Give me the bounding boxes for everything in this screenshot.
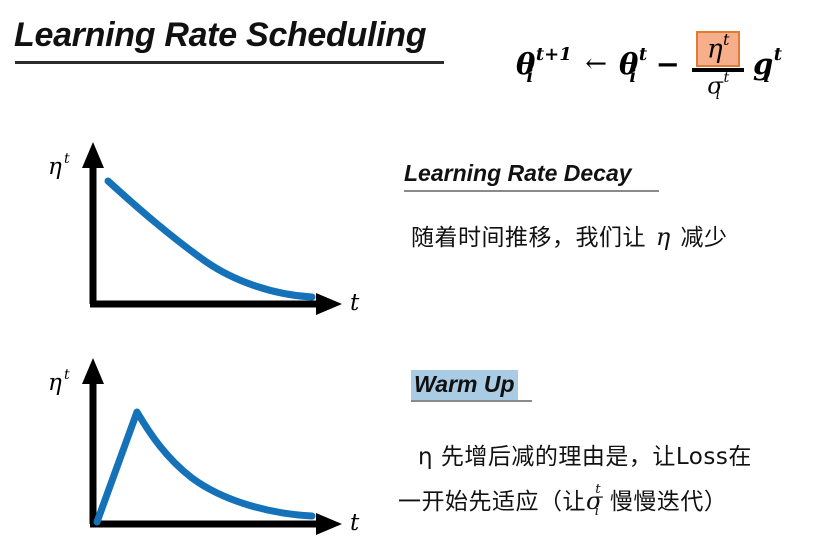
- minus-operator: −: [656, 47, 680, 81]
- y-axis-label-eta: η: [48, 370, 62, 396]
- section-heading-underline-decay: [404, 190, 659, 192]
- decay-curve: [108, 181, 312, 297]
- section-heading-warm-up: Warm Up: [411, 370, 518, 400]
- decay-description-suffix: 减少: [681, 225, 728, 251]
- learning-rate-fraction: ηt σti: [692, 31, 744, 100]
- section-heading-underline-warmup: [411, 400, 532, 402]
- chart-decay-axes: [82, 142, 342, 315]
- warmup-line2-suffix: 慢慢迭代）: [610, 489, 728, 515]
- update-rule-formula: θt+1i ← θti − ηt σti gti: [516, 16, 782, 112]
- x-axis-arrowhead: [316, 513, 342, 535]
- y-axis-label-eta: η: [48, 154, 62, 180]
- eta-highlight-box: ηt: [696, 31, 740, 67]
- y-axis-label-superscript: t: [64, 151, 70, 167]
- theta-next-symbol: θt+1i: [516, 47, 571, 81]
- x-axis-label-t: t: [350, 510, 360, 536]
- chart-warm-up: η t t: [20, 348, 380, 553]
- y-axis-label-superscript: t: [64, 367, 70, 383]
- theta-current-symbol: θti: [619, 47, 647, 81]
- warmup-description-line-2: 一开始先适应（让σti慢慢迭代）: [398, 482, 727, 516]
- decay-description-text: 随着时间推移，我们让 η 减少: [411, 218, 728, 252]
- left-arrow-icon: ←: [585, 49, 607, 79]
- section-heading-learning-rate-decay: Learning Rate Decay: [404, 160, 632, 187]
- warmup-line2-prefix: 一开始先适应（让: [398, 489, 586, 515]
- fraction-bar: [692, 68, 744, 72]
- page-title-underline: [15, 61, 444, 64]
- warmup-description-line-1: η 先增后减的理由是，让Loss在: [418, 437, 752, 471]
- y-axis-arrowhead: [82, 358, 104, 384]
- sigma-denominator: σti: [707, 73, 728, 100]
- eta-symbol: η: [654, 223, 673, 251]
- decay-description-prefix: 随着时间推移，我们让: [411, 225, 646, 251]
- x-axis-arrowhead: [316, 293, 342, 315]
- sigma-symbol: σti: [586, 487, 610, 515]
- chart-learning-rate-decay: η t t: [20, 132, 380, 332]
- warmup-curve: [97, 412, 312, 522]
- page-title: Learning Rate Scheduling: [14, 16, 426, 55]
- x-axis-label-t: t: [350, 290, 360, 316]
- y-axis-arrowhead: [82, 142, 104, 168]
- gradient-symbol: gti: [753, 47, 782, 81]
